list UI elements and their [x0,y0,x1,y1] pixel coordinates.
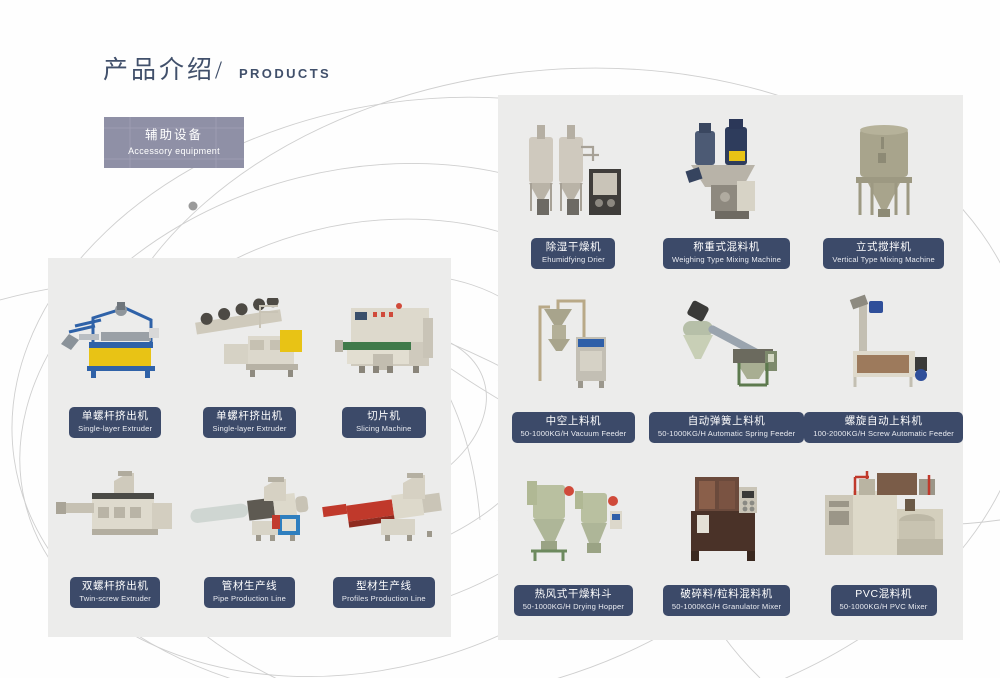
product-card[interactable]: 螺旋自动上料机 100-2000KG/H Screw Automatic Fee… [804,273,963,446]
product-card[interactable]: PVC混料机 50-1000KG/H PVC Mixeг [804,447,963,620]
product-card[interactable]: 单螺杆挤出机 Single-layer Extruder [182,272,316,442]
product-card[interactable]: 立式搅拌机 Vertical Type Mixing Machine [804,100,963,273]
product-name-cn: 热风式干燥料斗 [523,588,624,601]
product-name-en: 50-1000KG/H PVC Mixeг [840,601,928,612]
category-tab-accessory-equipment[interactable]: 辅助设备 Accessory equipment [104,117,244,168]
product-badge: 型材生产线 Profiles Production Line [333,577,435,608]
product-card[interactable]: 称重式混料机 Weighing Type Mixing Machine [649,100,804,273]
product-card[interactable]: 自动弹簧上料机 50-1000KG/H Automatic Spring Fee… [649,273,804,446]
product-name-cn: 单螺杆挤出机 [78,410,152,423]
automatic-spring-feeder-icon [649,273,804,411]
product-name-cn: 单螺杆挤出机 [212,410,286,423]
vacuum-feeder-icon [498,273,649,411]
product-name-en: 100-2000KG/H Screw Automatic Feeder [813,428,954,439]
product-name-en: Twin-screw Extruder [79,593,151,604]
product-name-en: 50-1000KG/H Vacuum Feeder [521,428,627,439]
page-title-en: PRODUCTS [239,66,331,81]
product-card[interactable]: 切片机 Slicing Machine [317,272,451,442]
profiles-production-line-icon [317,442,451,577]
product-name-cn: PVC混料机 [840,588,928,601]
product-name-en: Single-layer Extruder [78,423,152,434]
product-card[interactable]: 单螺杆挤出机 Single-layer Extruder [48,272,182,442]
product-name-en: Single-layer Extruder [212,423,286,434]
product-name-en: 50-1000KG/H Drying Hopper [523,601,624,612]
category-tab-label-cn: 辅助设备 [145,127,203,144]
product-name-cn: 型材生产线 [342,580,426,593]
product-name-cn: 管材生产线 [213,580,286,593]
product-badge: 单螺杆挤出机 Single-layer Extruder [203,407,295,438]
product-name-en: Ehumidfying Drier [540,254,606,265]
product-badge: 中空上料机 50-1000KG/H Vacuum Feeder [512,412,636,443]
product-badge: 管材生产线 Pipe Production Line [204,577,295,608]
product-catalog-page: 产品介绍/ PRODUCTS 辅助设备 Accessory equipment [0,0,1000,678]
granulator-mixer-icon [649,447,804,585]
product-name-en: Pipe Production Line [213,593,286,604]
twin-screw-extruder-icon [48,442,182,577]
product-name-cn: 自动弹簧上料机 [658,415,795,428]
pipe-production-line-icon [182,442,316,577]
product-card[interactable]: 中空上料机 50-1000KG/H Vacuum Feeder [498,273,649,446]
product-card[interactable]: 型材生产线 Profiles Production Line [317,442,451,612]
product-badge: 自动弹簧上料机 50-1000KG/H Automatic Spring Fee… [649,412,804,443]
product-badge: 切片机 Slicing Machine [342,407,426,438]
drying-hopper-icon [498,447,649,585]
product-card[interactable]: 破碎料/粒料混料机 50-1000KG/H Granulator Mixer [649,447,804,620]
product-name-cn: 切片机 [351,410,417,423]
product-name-cn: 称重式混料机 [672,241,781,254]
product-name-en: 50-1000KG/H Granulator Mixer [672,601,781,612]
product-name-cn: 螺旋自动上料机 [813,415,954,428]
product-name-en: Weighing Type Mixing Machine [672,254,781,265]
product-card[interactable]: 双螺杆挤出机 Twin-screw Extruder [48,442,182,612]
page-title: 产品介绍/ PRODUCTS [103,50,331,86]
product-name-en: Vertical Type Mixing Machine [832,254,934,265]
product-name-cn: 立式搅拌机 [832,241,934,254]
product-card[interactable]: 热风式干燥料斗 50-1000KG/H Drying Hopper [498,447,649,620]
dehumidifying-drier-icon [498,100,649,238]
product-name-cn: 除湿干燥机 [540,241,606,254]
single-layer-extruder-icon [48,272,182,407]
product-name-en: Slicing Machine [351,423,417,434]
slicing-machine-icon [317,272,451,407]
vertical-mixing-machine-icon [804,100,963,238]
product-card[interactable]: 除湿干燥机 Ehumidfying Drier [498,100,649,273]
product-name-cn: 破碎料/粒料混料机 [672,588,781,601]
single-layer-extruder-sheet-icon [182,272,316,407]
product-badge: PVC混料机 50-1000KG/H PVC Mixeг [831,585,937,616]
product-badge: 热风式干燥料斗 50-1000KG/H Drying Hopper [514,585,633,616]
accessory-product-grid: 除湿干燥机 Ehumidfying Drier [498,100,963,620]
product-badge: 除湿干燥机 Ehumidfying Drier [531,238,615,269]
product-name-en: Profiles Production Line [342,593,426,604]
product-badge: 破碎料/粒料混料机 50-1000KG/H Granulator Mixer [663,585,790,616]
product-badge: 螺旋自动上料机 100-2000KG/H Screw Automatic Fee… [804,412,963,443]
page-title-cn: 产品介绍/ [103,50,225,86]
product-name-cn: 中空上料机 [521,415,627,428]
category-tab-label-en: Accessory equipment [128,144,220,158]
extrusion-product-grid: 单螺杆挤出机 Single-layer Extruder [48,272,451,612]
product-name-cn: 双螺杆挤出机 [79,580,151,593]
product-name-en: 50-1000KG/H Automatic Spring Feeder [658,428,795,439]
product-badge: 双螺杆挤出机 Twin-screw Extruder [70,577,160,608]
weighing-mixing-machine-icon [649,100,804,238]
pvc-mixer-icon [804,447,963,585]
screw-automatic-feeder-icon [804,273,963,411]
product-card[interactable]: 管材生产线 Pipe Production Line [182,442,316,612]
product-badge: 立式搅拌机 Vertical Type Mixing Machine [823,238,943,269]
product-badge: 单螺杆挤出机 Single-layer Extruder [69,407,161,438]
product-badge: 称重式混料机 Weighing Type Mixing Machine [663,238,790,269]
